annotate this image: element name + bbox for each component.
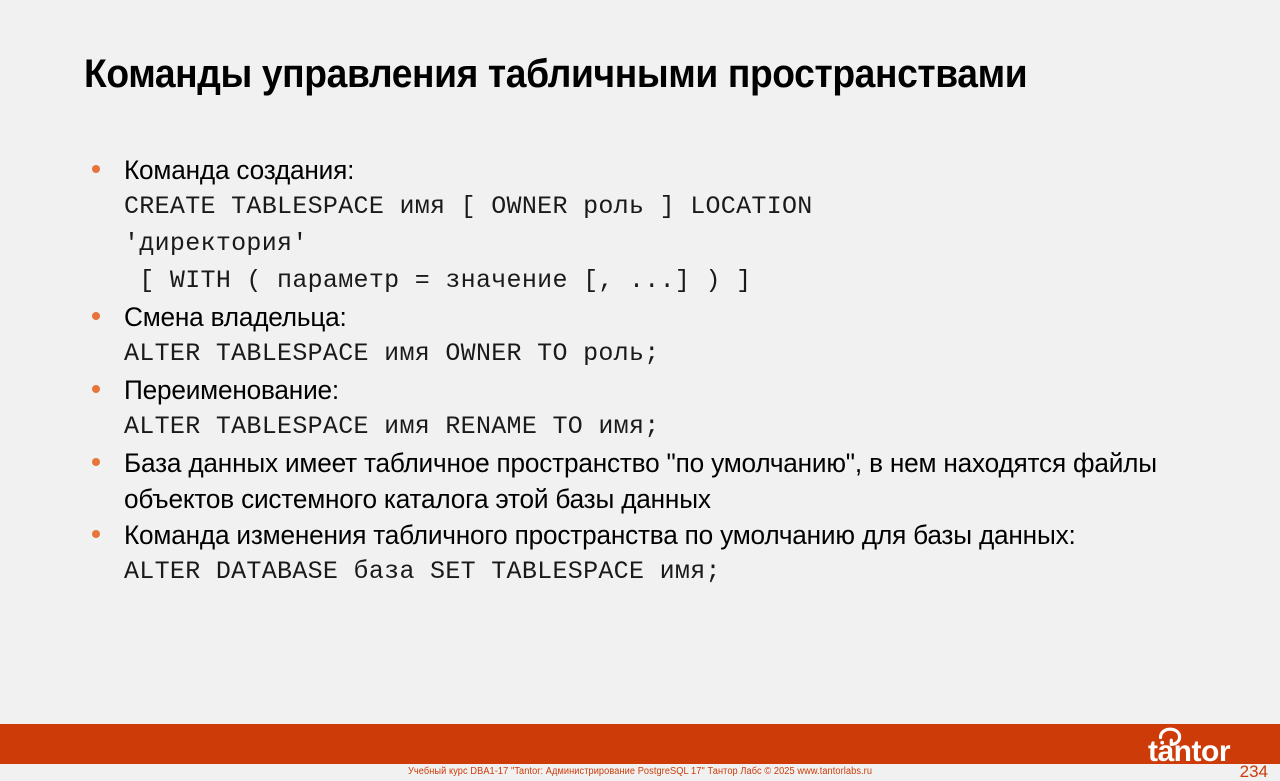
- bullet-list: Команда создания: CREATE TABLESPACE имя …: [84, 152, 1204, 590]
- list-item: Переименование: ALTER TABLESPACE имя REN…: [84, 372, 1204, 445]
- list-item-label: База данных имеет табличное пространство…: [124, 445, 1172, 517]
- tantor-logo: tantor: [1148, 726, 1268, 764]
- page-number: 234: [1240, 762, 1268, 781]
- code-line: ALTER TABLESPACE имя RENAME TO имя;: [124, 408, 1204, 445]
- list-item-label: Переименование:: [124, 372, 1172, 408]
- list-item-label: Смена владельца:: [124, 299, 1172, 335]
- code-line: ALTER DATABASE база SET TABLESPACE имя;: [124, 553, 1204, 590]
- footer-note: Учебный курс DBA1-17 "Tantor: Администри…: [51, 764, 1229, 780]
- footer-bar: [0, 724, 1280, 764]
- list-item: База данных имеет табличное пространство…: [84, 445, 1204, 517]
- slide: Команды управления табличными пространст…: [0, 0, 1280, 781]
- list-item: Смена владельца: ALTER TABLESPACE имя OW…: [84, 299, 1204, 372]
- bullet-marker-icon: [92, 530, 100, 538]
- code-line: CREATE TABLESPACE имя [ OWNER роль ] LOC…: [124, 188, 1204, 225]
- code-line: 'директория': [124, 225, 1204, 262]
- bullet-marker-icon: [92, 312, 100, 320]
- list-item-label: Команда создания:: [124, 152, 1172, 188]
- code-line: ALTER TABLESPACE имя OWNER TO роль;: [124, 335, 1204, 372]
- page-title: Команды управления табличными пространст…: [84, 52, 1126, 96]
- bullet-marker-icon: [92, 458, 100, 466]
- code-line: [ WITH ( параметр = значение [, ...] ) ]: [124, 262, 1204, 299]
- list-item: Команда изменения табличного пространств…: [84, 517, 1204, 590]
- list-item-label: Команда изменения табличного пространств…: [124, 517, 1172, 553]
- bullet-marker-icon: [92, 385, 100, 393]
- bullet-marker-icon: [92, 165, 100, 173]
- list-item: Команда создания: CREATE TABLESPACE имя …: [84, 152, 1204, 299]
- logo-wordmark: tantor: [1148, 735, 1231, 764]
